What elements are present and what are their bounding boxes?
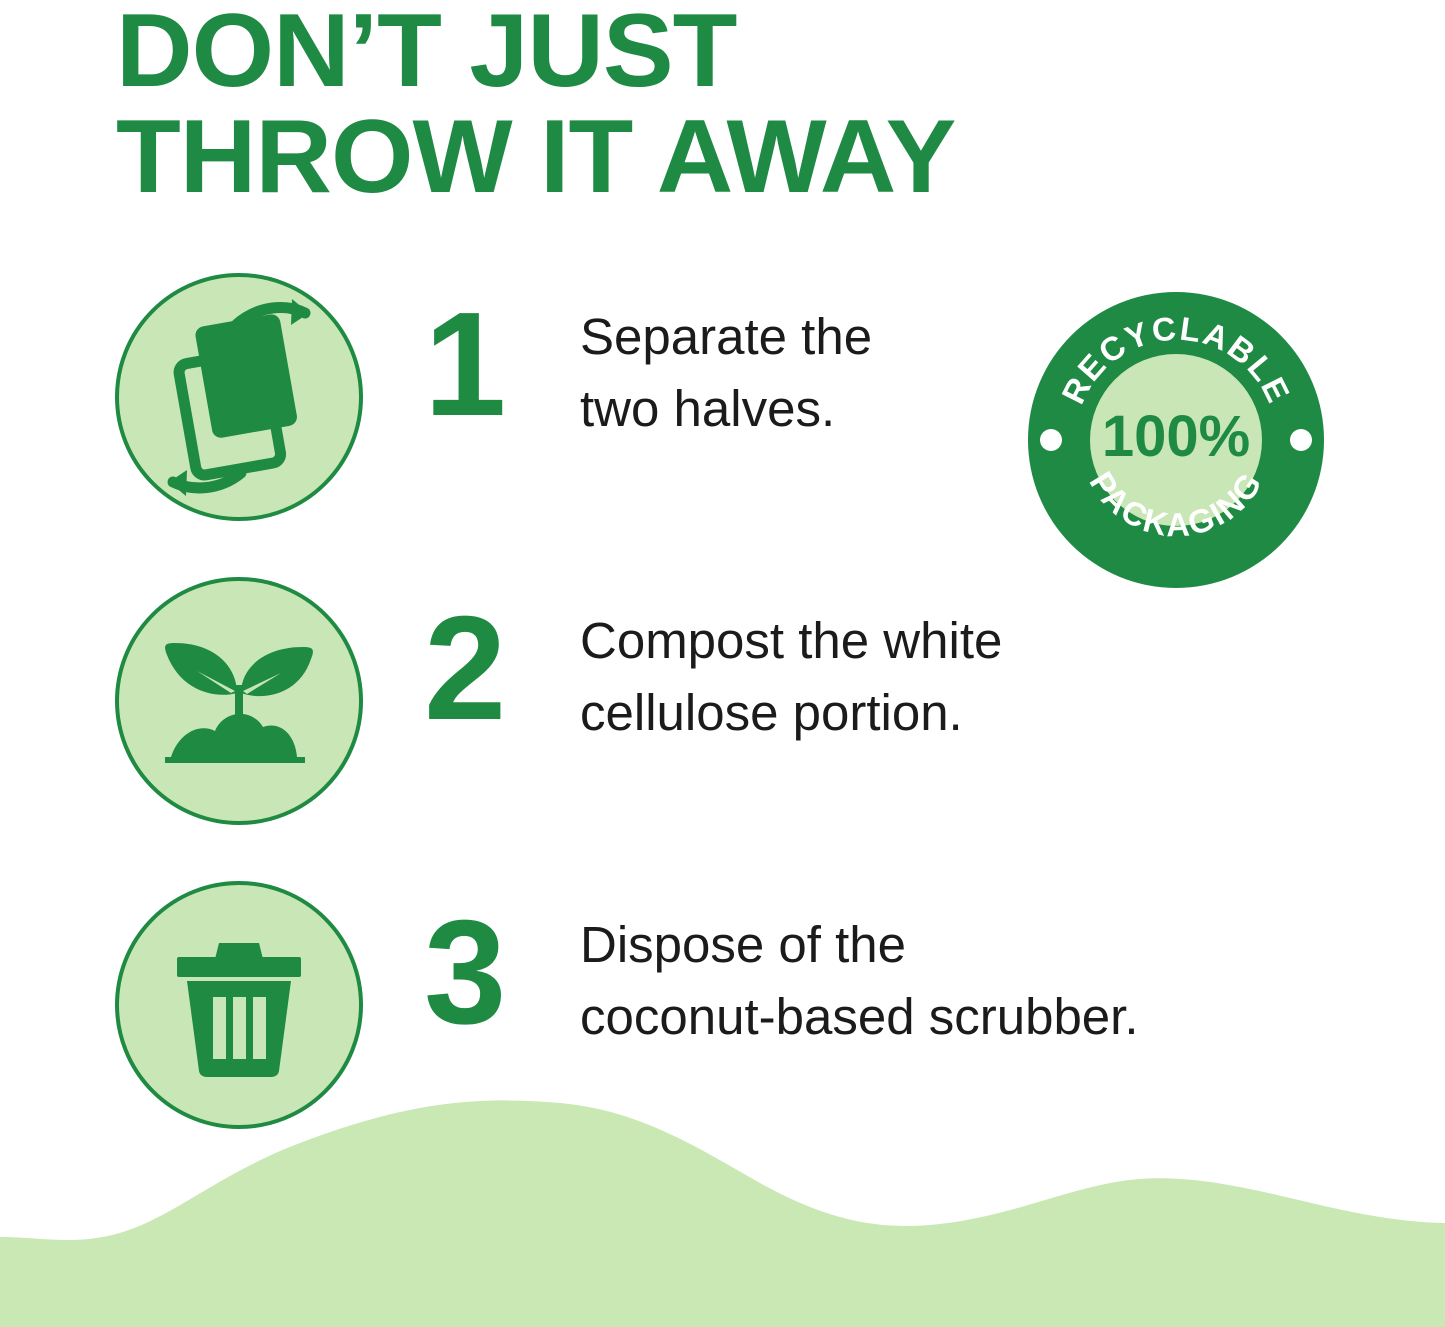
step-description: Compost the white cellulose portion.	[580, 605, 1340, 749]
step-description: Dispose of the coconut-based scrubber.	[580, 909, 1340, 1053]
sprout-compost-icon	[119, 581, 359, 821]
trash-bin-icon	[119, 885, 359, 1125]
step-description-line-2: coconut-based scrubber.	[580, 981, 1340, 1053]
infographic-page: DON’T JUST THROW IT AWAY	[0, 0, 1445, 1327]
step-2-icon-badge	[115, 577, 363, 825]
page-title: DON’T JUST THROW IT AWAY	[116, 0, 1216, 210]
step-number: 1	[424, 291, 544, 439]
separate-halves-icon	[119, 277, 359, 517]
step-1-icon-badge	[115, 273, 363, 521]
step-item: 3 Dispose of the coconut-based scrubber.	[0, 881, 1445, 1129]
step-description-line-2: cellulose portion.	[580, 677, 1340, 749]
step-number: 2	[424, 595, 544, 743]
step-description-line-1: Compost the white	[580, 612, 1002, 669]
recyclable-packaging-badge: RECYCLABLE PACKAGING 100%	[1028, 292, 1324, 588]
step-description-line-1: Dispose of the	[580, 916, 906, 973]
step-3-icon-badge	[115, 881, 363, 1129]
badge-dot-right	[1290, 429, 1312, 451]
badge-center-text: 100%	[1102, 404, 1250, 469]
step-item: 2 Compost the white cellulose portion.	[0, 577, 1445, 825]
badge-dot-left	[1040, 429, 1062, 451]
step-number: 3	[424, 899, 544, 1047]
page-title-line-2: THROW IT AWAY	[116, 104, 1238, 210]
step-description-line-1: Separate the	[580, 308, 872, 365]
page-title-line-1: DON’T JUST	[116, 0, 1238, 104]
